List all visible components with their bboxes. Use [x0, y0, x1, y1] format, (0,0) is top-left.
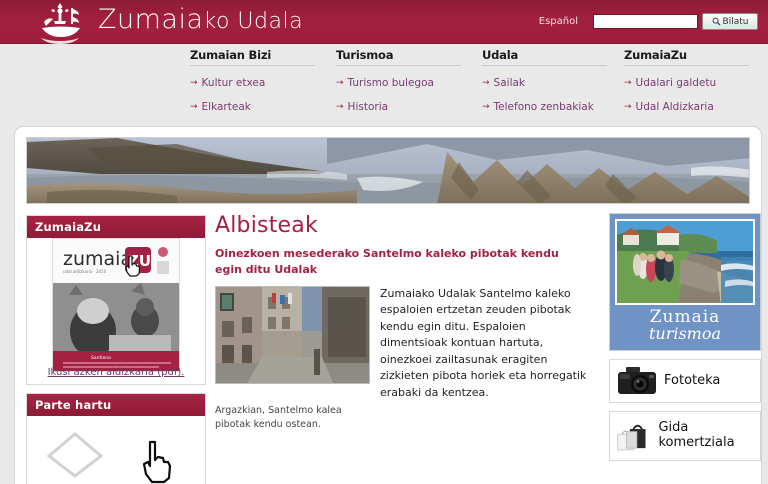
site-header: Zumaiako Udala Español Bilatu [0, 0, 768, 44]
nav-link-udalari-galdetu[interactable]: →Udalari galdetu [624, 77, 716, 89]
arrow-icon: → [190, 78, 198, 88]
search-button-label: Bilatu [723, 17, 749, 27]
news-body-text: Zumaiako Udalak Santelmo kaleko espaloie… [380, 286, 587, 402]
fototeka-button[interactable]: Fototeka [609, 359, 761, 403]
news-headline-link[interactable]: Oinezkoen mesederako Santelmo kaleko pib… [215, 246, 587, 278]
nav-item: →Sailak [482, 71, 607, 90]
magazine-cover-image[interactable]: zumaia ZU udal aldizkaria · 2010 Santi [52, 238, 180, 372]
nav-item: →Telefono zenbakiak [482, 95, 607, 114]
nav-link-label: Kultur etxea [202, 77, 266, 89]
nav-link-label: Turismo bulegoa [348, 77, 434, 89]
search-input[interactable] [593, 14, 698, 29]
arrow-icon: → [624, 102, 632, 112]
content-panel: ZumaiaZu zumaia ZU udal aldizkaria · 201… [14, 126, 762, 484]
nav-link-udal-aldizkaria[interactable]: →Udal Aldizkaria [624, 101, 714, 113]
arrow-icon: → [336, 102, 344, 112]
news-photo-caption: Argazkian, Santelmo kalea pibotak kendu … [215, 404, 375, 431]
arrow-icon: → [482, 78, 490, 88]
zumaiazu-sidebar-box: ZumaiaZu zumaia ZU udal aldizkaria · 201… [26, 215, 206, 385]
nav-item: →Kultur etxea [190, 71, 315, 90]
zumaia-turismoa-banner[interactable]: Zumaia turismoa [609, 213, 761, 351]
participation-diamond-icon [45, 430, 105, 478]
street-photo-illustration [216, 287, 370, 384]
turismo-line2: turismoa [615, 324, 755, 343]
nav-link-historia[interactable]: →Historia [336, 101, 388, 113]
nav-heading: ZumaiaZu [624, 48, 749, 66]
coast-photo-illustration [617, 221, 755, 305]
flysch-illustration [27, 138, 750, 204]
site-title-main: Zumaia [98, 4, 204, 35]
zumaia-coat-of-arms-icon [32, 0, 90, 50]
site-title: Zumaiako Udala [98, 4, 303, 35]
svg-text:udal aldizkaria · 2010: udal aldizkaria · 2010 [63, 269, 107, 274]
arrow-icon: → [336, 78, 344, 88]
nav-link-telefono-zenbakiak[interactable]: →Telefono zenbakiak [482, 101, 594, 113]
nav-item: →Udalari galdetu [624, 71, 749, 90]
nav-link-label: Udalari galdetu [636, 77, 717, 89]
nav-item: →Udal Aldizkaria [624, 95, 749, 114]
nav-link-sailak[interactable]: →Sailak [482, 77, 525, 89]
nav-link-elkarteak[interactable]: →Elkarteak [190, 101, 251, 113]
nav-link-label: Telefono zenbakiak [494, 101, 594, 113]
zumaiazu-box-header: ZumaiaZu [27, 216, 205, 238]
site-title-suffix: ko Udala [204, 9, 304, 34]
nav-item: →Historia [336, 95, 461, 114]
svg-text:zumaia: zumaia [63, 248, 132, 270]
page-root: Zumaiako Udala Español Bilatu Zumaian Bi… [0, 0, 768, 484]
language-switch-link[interactable]: Español [539, 16, 578, 27]
svg-text:ZU: ZU [128, 252, 151, 270]
turismo-caption: Zumaia turismoa [615, 305, 755, 343]
nav-heading: Zumaian Bizi [190, 48, 315, 66]
nav-heading: Udala [482, 48, 607, 66]
turismo-photo-image [615, 219, 755, 305]
nav-link-turismo-bulegoa[interactable]: →Turismo bulegoa [336, 77, 434, 89]
nav-link-label: Sailak [494, 77, 525, 89]
nav-heading: Turismoa [336, 48, 461, 66]
nav-link-label: Udal Aldizkaria [636, 101, 714, 113]
nav-item: →Turismo bulegoa [336, 71, 461, 90]
magazine-pdf-link[interactable]: Ikusi azken aldizkaria (pdf). [27, 367, 205, 378]
nav-link-kultur-etxea[interactable]: →Kultur etxea [190, 77, 265, 89]
nav-link-label: Historia [348, 101, 389, 113]
nav-item: →Elkarteak [190, 95, 315, 114]
nav-link-label: Elkarteak [202, 101, 251, 113]
arrow-icon: → [624, 78, 632, 88]
news-thumbnail-image[interactable] [215, 286, 370, 384]
gida-komertziala-button[interactable]: Gida komertziala [609, 411, 761, 461]
parte-hartu-sidebar-box: Parte hartu [26, 393, 206, 484]
parte-hartu-box-header: Parte hartu [27, 394, 205, 416]
camera-icon [616, 365, 658, 397]
search-button[interactable]: Bilatu [702, 13, 758, 30]
main-navigation: Zumaian Bizi →Kultur etxea →Elkarteak →G… [0, 44, 768, 124]
page-title: Albisteak [215, 213, 587, 238]
gida-label: Gida komertziala [658, 421, 754, 451]
main-news-column: Albisteak Oinezkoen mesederako Santelmo … [215, 213, 587, 431]
arrow-icon: → [190, 102, 198, 112]
shopping-bags-icon [616, 418, 652, 454]
search-icon [712, 17, 721, 26]
svg-text:Santiena: Santiena [91, 355, 111, 361]
hero-banner-image [26, 137, 750, 204]
magazine-cover-illustration: zumaia ZU udal aldizkaria · 2010 Santi [53, 239, 180, 372]
arrow-icon: → [482, 102, 490, 112]
site-logo[interactable] [32, 0, 94, 50]
fototeka-label: Fototeka [664, 374, 720, 389]
